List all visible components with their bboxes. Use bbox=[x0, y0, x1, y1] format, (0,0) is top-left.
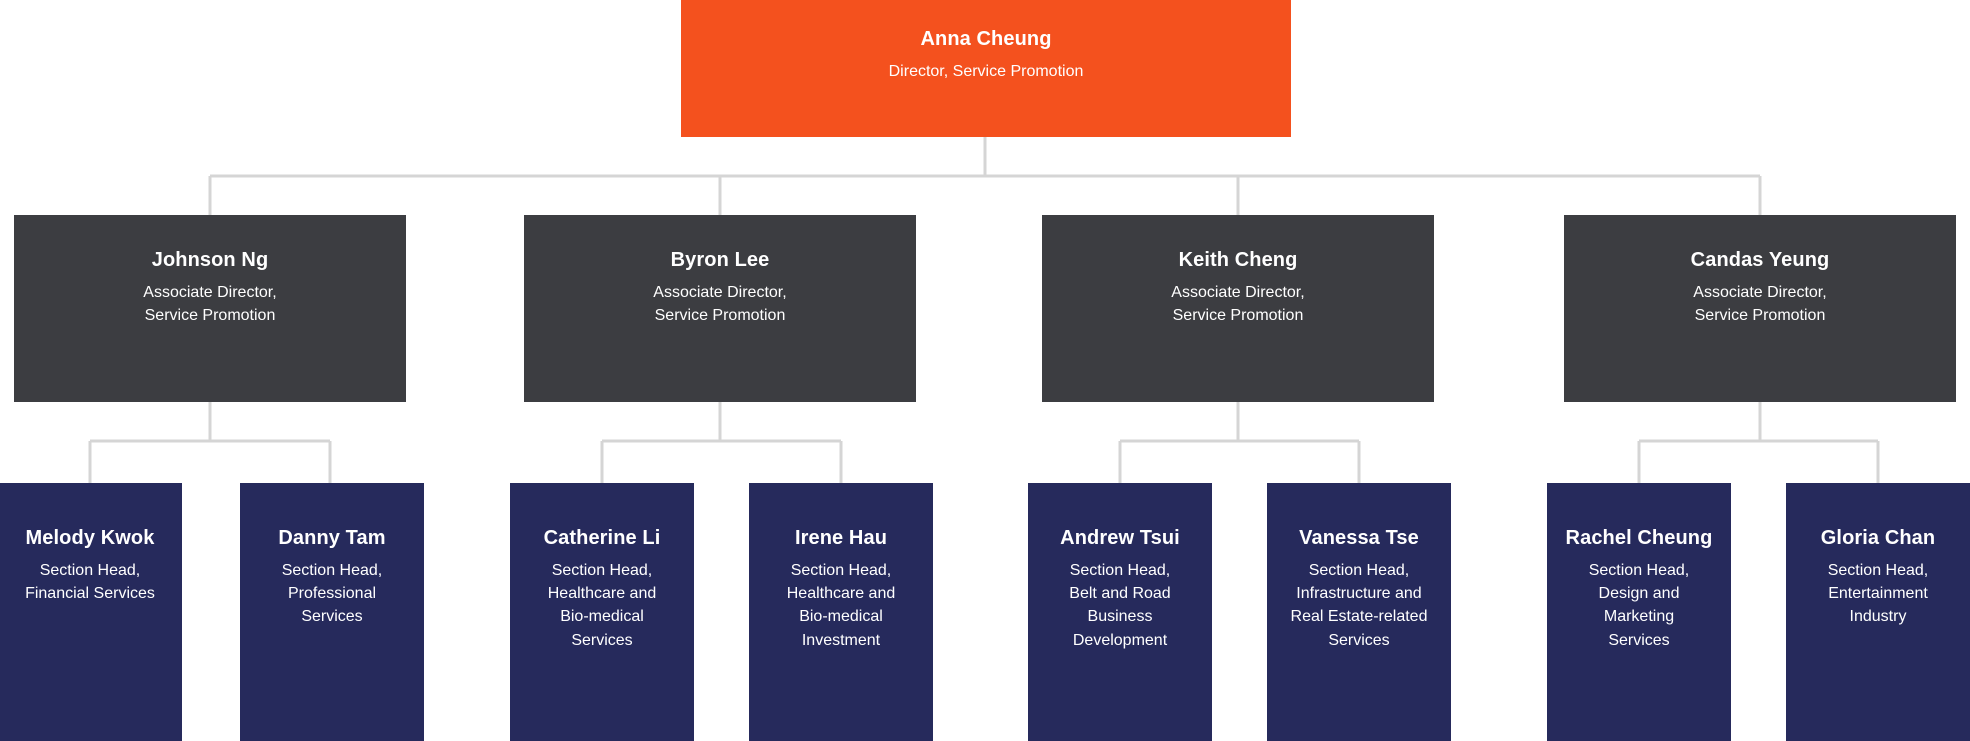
node-andrew-tsui[interactable]: Andrew Tsui Section Head, Belt and Road … bbox=[1028, 483, 1212, 741]
node-name: Catherine Li bbox=[544, 526, 661, 551]
node-vanessa-tse[interactable]: Vanessa Tse Section Head, Infrastructure… bbox=[1267, 483, 1451, 741]
node-title: Section Head, Healthcare and Bio-medical… bbox=[548, 559, 657, 652]
node-gloria-chan[interactable]: Gloria Chan Section Head, Entertainment … bbox=[1786, 483, 1970, 741]
node-rachel-cheung[interactable]: Rachel Cheung Section Head, Design and M… bbox=[1547, 483, 1731, 741]
node-name: Johnson Ng bbox=[152, 248, 269, 273]
node-title: Section Head, Belt and Road Business Dev… bbox=[1069, 559, 1170, 652]
node-title: Section Head, Design and Marketing Servi… bbox=[1589, 559, 1690, 652]
node-title: Associate Director, Service Promotion bbox=[1171, 281, 1304, 327]
node-irene-hau[interactable]: Irene Hau Section Head, Healthcare and B… bbox=[749, 483, 933, 741]
node-danny-tam[interactable]: Danny Tam Section Head, Professional Ser… bbox=[240, 483, 424, 741]
node-title: Associate Director, Service Promotion bbox=[143, 281, 276, 327]
node-johnson-ng[interactable]: Johnson Ng Associate Director, Service P… bbox=[14, 215, 406, 402]
node-title: Associate Director, Service Promotion bbox=[653, 281, 786, 327]
node-name: Keith Cheng bbox=[1179, 248, 1298, 273]
node-name: Rachel Cheung bbox=[1566, 526, 1713, 551]
node-name: Melody Kwok bbox=[26, 526, 155, 551]
node-name: Andrew Tsui bbox=[1060, 526, 1180, 551]
node-name: Gloria Chan bbox=[1821, 526, 1935, 551]
node-anna-cheung[interactable]: Anna Cheung Director, Service Promotion bbox=[681, 0, 1291, 137]
node-title: Director, Service Promotion bbox=[889, 60, 1084, 83]
node-name: Anna Cheung bbox=[920, 27, 1051, 52]
node-name: Vanessa Tse bbox=[1299, 526, 1419, 551]
node-catherine-li[interactable]: Catherine Li Section Head, Healthcare an… bbox=[510, 483, 694, 741]
node-name: Danny Tam bbox=[278, 526, 385, 551]
node-title: Associate Director, Service Promotion bbox=[1693, 281, 1826, 327]
node-title: Section Head, Entertainment Industry bbox=[1828, 559, 1929, 629]
node-title: Section Head, Professional Services bbox=[282, 559, 383, 629]
node-keith-cheng[interactable]: Keith Cheng Associate Director, Service … bbox=[1042, 215, 1434, 402]
node-title: Section Head, Financial Services bbox=[25, 559, 155, 605]
node-melody-kwok[interactable]: Melody Kwok Section Head, Financial Serv… bbox=[0, 483, 182, 741]
node-title: Section Head, Healthcare and Bio-medical… bbox=[787, 559, 896, 652]
node-byron-lee[interactable]: Byron Lee Associate Director, Service Pr… bbox=[524, 215, 916, 402]
node-candas-yeung[interactable]: Candas Yeung Associate Director, Service… bbox=[1564, 215, 1956, 402]
node-name: Irene Hau bbox=[795, 526, 887, 551]
org-chart: Anna Cheung Director, Service Promotion … bbox=[0, 0, 1970, 741]
node-name: Candas Yeung bbox=[1691, 248, 1830, 273]
node-title: Section Head, Infrastructure and Real Es… bbox=[1291, 559, 1428, 652]
node-name: Byron Lee bbox=[671, 248, 770, 273]
